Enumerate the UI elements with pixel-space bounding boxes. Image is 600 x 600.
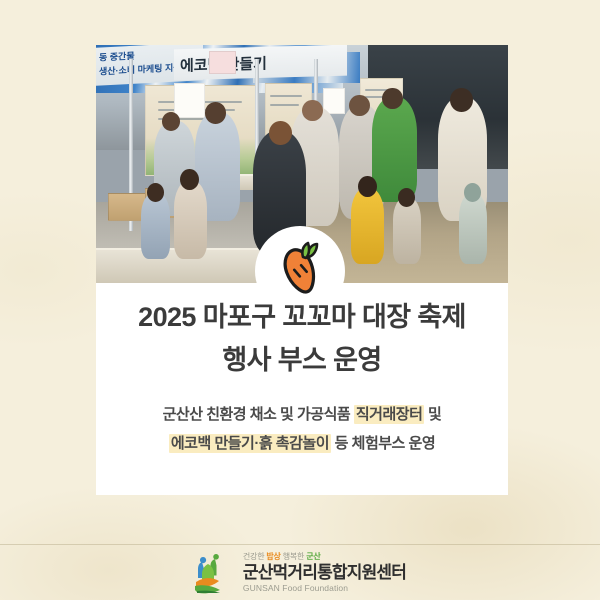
description-line-1-pre: 군산산 친환경 채소 및 가공식품 bbox=[163, 406, 354, 423]
description-line-1: 군산산 친환경 채소 및 가공식품 직거래장터 및 bbox=[96, 400, 508, 429]
description-block: 군산산 친환경 채소 및 가공식품 직거래장터 및 에코백 만들기·흙 촉감놀이… bbox=[96, 400, 508, 458]
footer-tagline-c: 행복한 bbox=[281, 552, 307, 561]
photo-child-head bbox=[358, 176, 377, 197]
photo-person-adult bbox=[372, 97, 417, 202]
gunsan-food-foundation-logo-icon bbox=[194, 552, 234, 594]
photo-person-head bbox=[382, 88, 403, 109]
footer: 건강한 밥상 행복한 군산 군산먹거리통합지원센터 GUNSAN Food Fo… bbox=[0, 545, 600, 600]
photo-child-head bbox=[398, 188, 415, 207]
photo-child bbox=[141, 193, 170, 260]
footer-text-column: 건강한 밥상 행복한 군산 군산먹거리통합지원센터 GUNSAN Food Fo… bbox=[243, 553, 406, 593]
carrot-icon bbox=[269, 240, 331, 302]
description-line-2-post: 등 체험부스 운영 bbox=[331, 435, 435, 452]
page-title-line-1: 2025 마포구 꼬꼬마 대장 축제 bbox=[96, 296, 508, 339]
footer-organization-name: 군산먹거리통합지원센터 bbox=[243, 564, 406, 581]
footer-tagline-a: 건강한 bbox=[243, 552, 267, 561]
description-line-1-post: 및 bbox=[424, 406, 441, 423]
photo-main-banner-text: 에코백 만들기 bbox=[180, 47, 316, 79]
footer-tagline-d: 군산 bbox=[306, 552, 320, 561]
photo-child bbox=[459, 193, 488, 264]
photo-person-head bbox=[302, 100, 323, 121]
footer-organization-name-en: GUNSAN Food Foundation bbox=[243, 584, 406, 593]
photo-child bbox=[351, 188, 384, 264]
footer-tagline: 건강한 밥상 행복한 군산 bbox=[243, 553, 406, 561]
photo-person-head bbox=[205, 102, 226, 123]
photo-person-head bbox=[269, 121, 292, 145]
photo-child bbox=[174, 181, 207, 260]
page-title-line-2: 행사 부스 운영 bbox=[96, 339, 508, 382]
description-line-1-highlight: 직거래장터 bbox=[354, 405, 425, 424]
title-block: 2025 마포구 꼬꼬마 대장 축제 행사 부스 운영 bbox=[96, 296, 508, 382]
description-line-2: 에코백 만들기·흙 촉감놀이 등 체험부스 운영 bbox=[96, 429, 508, 458]
photo-child bbox=[393, 197, 422, 264]
photo-paper-sign-1 bbox=[174, 83, 205, 118]
description-line-2-highlight: 에코백 만들기·흙 촉감놀이 bbox=[169, 434, 331, 453]
promo-card: 동 중간물 생산·소비 마케팅 지원사업 에코백 만들기 bbox=[0, 0, 600, 600]
photo-child-head bbox=[147, 183, 164, 202]
photo-person-head bbox=[162, 112, 181, 131]
photo-paper-sign-2 bbox=[209, 51, 236, 74]
footer-tagline-b: 밥상 bbox=[266, 552, 280, 561]
photo-person-head bbox=[450, 88, 473, 112]
